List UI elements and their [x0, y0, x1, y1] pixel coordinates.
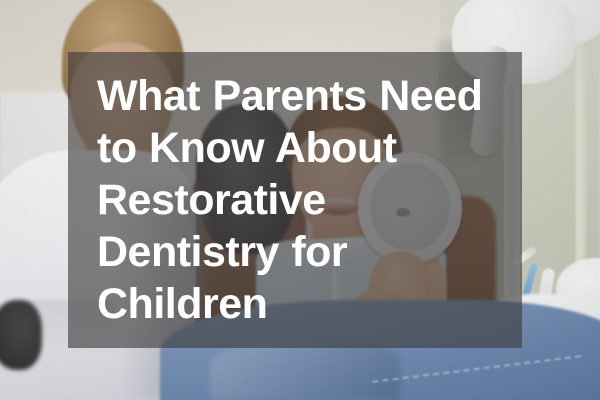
chair-edge-dark — [0, 300, 42, 370]
page-title: What Parents Need to Know About Restorat… — [97, 70, 502, 330]
jeans-fold-shading — [210, 342, 400, 400]
title-overlay-panel: What Parents Need to Know About Restorat… — [68, 52, 522, 348]
hero-banner: What Parents Need to Know About Restorat… — [0, 0, 600, 400]
